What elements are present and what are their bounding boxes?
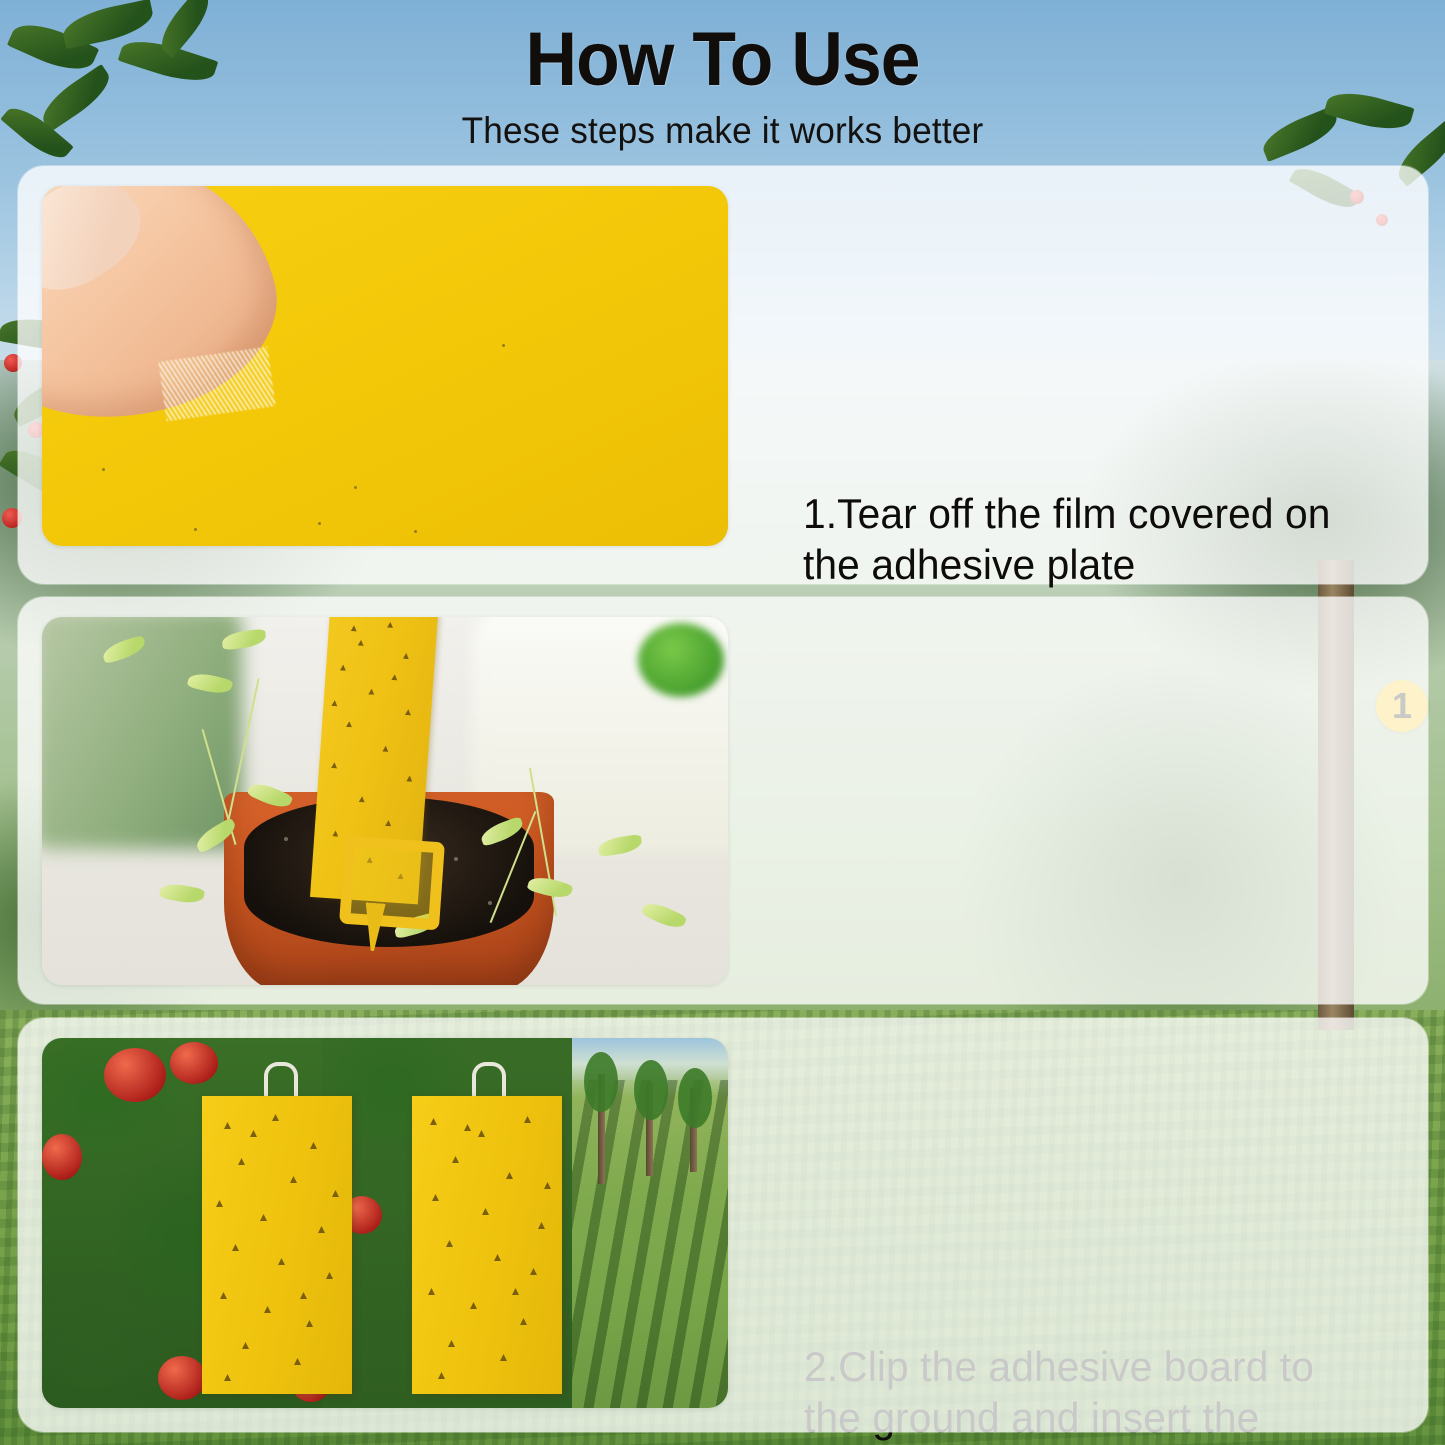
page-title: How To Use — [43, 22, 1401, 98]
trap-hook-left — [264, 1062, 298, 1100]
background-green-blur — [638, 623, 724, 697]
step-1-text: 1.Tear off the film covered on the adhes… — [803, 488, 1385, 590]
stake-clip — [339, 836, 445, 931]
step-1-photo — [42, 186, 728, 546]
step-card-3: 3.You can also hang it anywhere you want… — [18, 1018, 1428, 1432]
background-pot-blur — [42, 617, 242, 849]
page-subtitle: These steps make it works better — [36, 110, 1409, 152]
hanging-sticky-trap-right — [412, 1096, 562, 1394]
mown-grass-rows — [562, 1080, 728, 1408]
hanging-sticky-trap-left — [202, 1096, 352, 1394]
step-card-2: 2.Clip the adhesive board to the ground … — [18, 597, 1428, 1004]
fingernail — [42, 186, 157, 309]
step-2-photo — [42, 617, 728, 985]
infographic-canvas: How To Use These steps make it works bet… — [0, 0, 1445, 1445]
step-card-1: 1.Tear off the film covered on the adhes… — [18, 166, 1428, 584]
step-3-photo — [42, 1038, 728, 1408]
trap-hook-right — [472, 1062, 506, 1100]
